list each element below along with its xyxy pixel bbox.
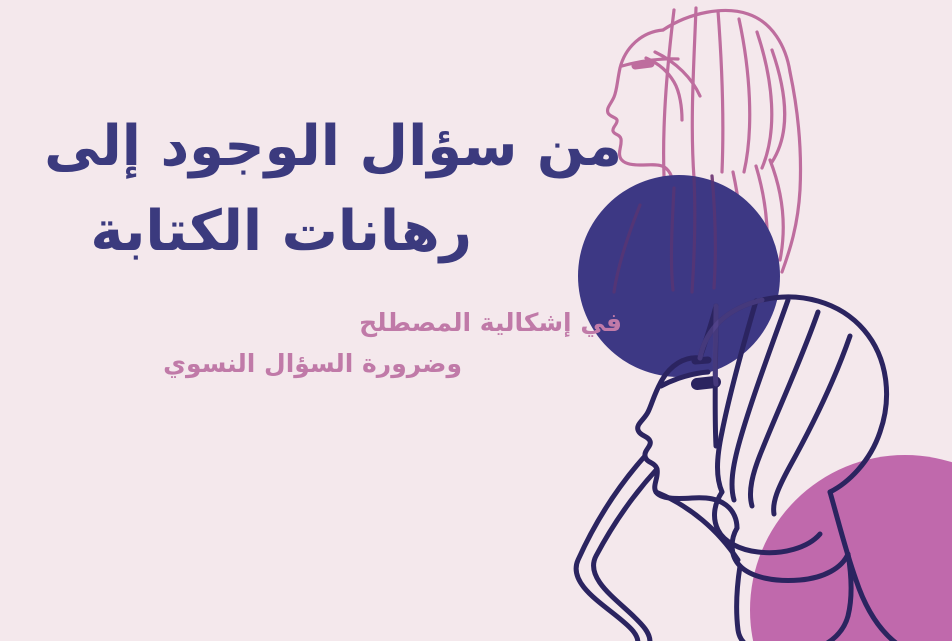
navy-outer-sweep-path (576, 456, 645, 641)
navy-knot-path (732, 528, 848, 580)
navy-woman-figure (576, 297, 900, 641)
pink-tail-1 (671, 188, 674, 290)
navy-fold-4 (774, 336, 850, 514)
navy-fold-3 (750, 312, 818, 506)
pink-strand-b (655, 52, 700, 96)
navy-figure-over-circle (700, 300, 762, 384)
pink-shoulder-path (782, 72, 801, 272)
page-title: من سؤال الوجود إلى رهانات الكتابة (62, 104, 622, 274)
subhead-line-1: في إشكالية المصطلح (62, 302, 622, 343)
headline-line-2: رهانات الكتابة (62, 189, 472, 274)
navy-fold-2 (732, 300, 788, 500)
pink-filled-circle (750, 455, 952, 641)
navy-neck-sweep-path (594, 469, 657, 641)
navy-fold-1 (718, 301, 757, 492)
page-subtitle: في إشكالية المصطلح وضرورة السؤال النسوي (62, 302, 622, 385)
navy-head-top-path (700, 297, 887, 492)
pink-tail-2 (692, 178, 695, 292)
pink-strand-2 (692, 8, 696, 178)
poster-text-block: من سؤال الوجود إلى رهانات الكتابة في إشك… (62, 104, 622, 385)
navy-eyebrow-line (695, 360, 708, 361)
pink-tail-4 (733, 172, 742, 284)
navy-chin-to-knot-path (656, 492, 738, 560)
pink-strand-3 (718, 11, 723, 172)
navy-tail-right-path (792, 554, 851, 641)
pink-strand-a (646, 58, 682, 120)
navy-fold-5 (715, 306, 716, 446)
navy-front-fold-path (700, 306, 716, 358)
headline-line-1: من سؤال الوجود إلى (62, 104, 622, 189)
pink-tail-5 (756, 166, 767, 276)
navy-tail-left-path (737, 566, 772, 641)
pink-strand-6 (772, 50, 785, 162)
navy-back-shoulder-path (830, 492, 900, 641)
poster-canvas: من سؤال الوجود إلى رهانات الكتابة في إشك… (0, 0, 952, 641)
navy-brow-band-path (661, 372, 708, 386)
pink-headwrap-top-path (663, 11, 790, 72)
pink-brow-band-path (622, 59, 678, 66)
pink-tail-6 (770, 160, 783, 260)
pink-strand-5 (757, 32, 772, 168)
navy-eye-line (697, 382, 715, 384)
pink-tails-over-navy (614, 176, 715, 292)
pink-tail-3 (712, 176, 715, 288)
pink-strand-4 (739, 19, 750, 172)
pink-woman-figure (608, 8, 801, 292)
subhead-line-2: وضرورة السؤال النسوي (62, 343, 462, 384)
pink-strand-1 (664, 10, 674, 176)
navy-face-profile-path (638, 358, 737, 528)
pink-eye-line (635, 64, 651, 66)
navy-knot-upper-path (715, 492, 820, 553)
